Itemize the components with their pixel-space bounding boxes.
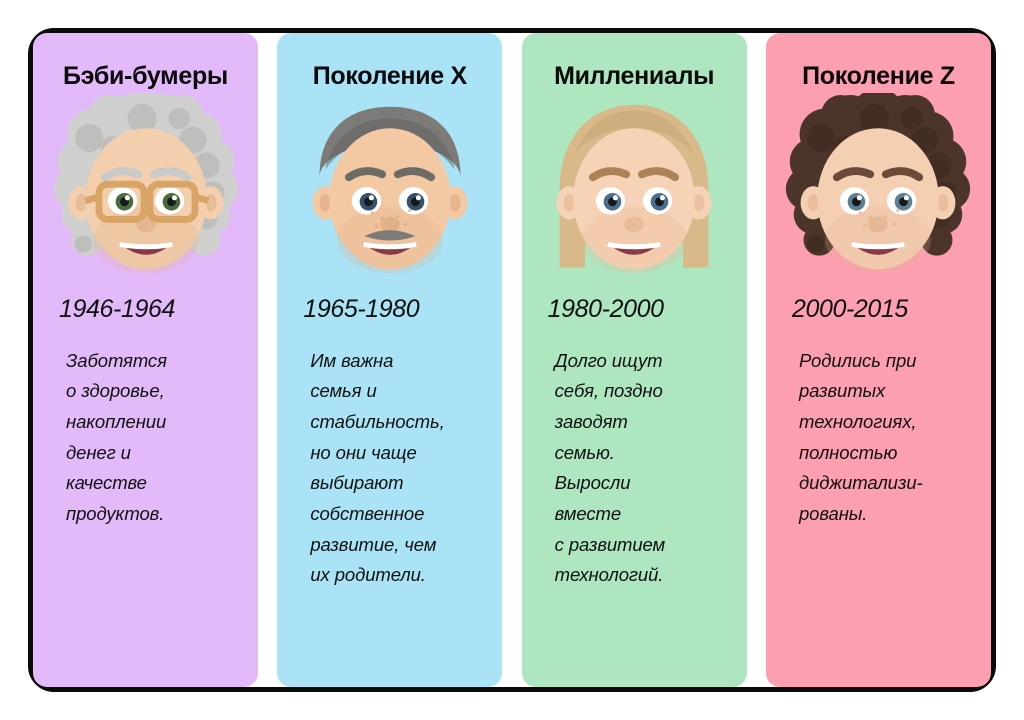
card-years-generation-z: 2000-2015 (766, 295, 991, 324)
card-years-baby-boomers: 1946-1964 (33, 295, 258, 324)
card-years-generation-x: 1965-1980 (277, 295, 502, 324)
card-description-generation-x: Им важна семья и стабильность, но они ча… (277, 346, 502, 592)
card-description-generation-z: Родились при развитых технологиях, полно… (766, 346, 991, 530)
infographic-root: Бэби-бумеры (0, 0, 1024, 720)
card-description-millennials: Долго ищут себя, поздно заводят семью. В… (522, 346, 747, 592)
generation-card-generation-x: Поколение X (277, 33, 502, 687)
memoji-young-person-curly-hair-avatar (766, 93, 991, 289)
card-years-millennials: 1980-2000 (522, 295, 747, 324)
card-title-generation-x: Поколение X (277, 63, 502, 91)
generation-card-millennials: Миллениалы (522, 33, 747, 687)
generation-card-baby-boomers: Бэби-бумеры (33, 33, 258, 687)
generation-cards-container: Бэби-бумеры (33, 33, 991, 687)
card-title-generation-z: Поколение Z (766, 63, 991, 91)
memoji-older-man-avatar (277, 93, 502, 289)
memoji-elderly-woman-avatar (33, 93, 258, 289)
card-title-millennials: Миллениалы (522, 63, 747, 91)
memoji-young-woman-avatar (522, 93, 747, 289)
card-title-baby-boomers: Бэби-бумеры (33, 63, 258, 91)
card-description-baby-boomers: Заботятся о здоровье, накоплении денег и… (33, 346, 258, 530)
generation-card-generation-z: Поколение Z (766, 33, 991, 687)
